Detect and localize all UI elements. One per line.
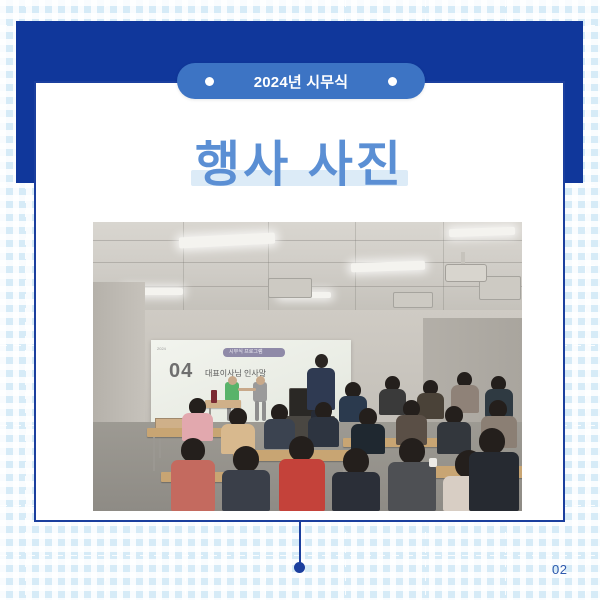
attendee-body: [388, 462, 436, 511]
slide-figure-body: [225, 382, 239, 402]
slide-figure-leg: [262, 401, 266, 421]
attendee-body: [222, 470, 270, 511]
ceiling-vent: [393, 292, 433, 308]
slide-canvas: 2024년 시무식 행사 사진 2: [0, 0, 600, 600]
attendee-body: [182, 413, 213, 441]
screen-corner-label: 2024: [157, 346, 166, 351]
screen-tag-label: 시무식 프로그램: [229, 348, 263, 355]
attendee-body: [279, 459, 325, 511]
screen-slide-number: 04: [169, 360, 193, 383]
attendee-body: [379, 389, 406, 415]
attendee-body: [171, 460, 215, 511]
paper-cup: [429, 458, 437, 467]
dot-icon: [388, 77, 397, 86]
pin-line: [299, 522, 301, 565]
water-bottle: [211, 390, 217, 403]
slide-figure-leg: [255, 401, 259, 421]
presenter-head: [315, 354, 328, 368]
ceiling-projector: [445, 264, 487, 282]
attendee-head: [399, 438, 425, 464]
ceiling-vent: [268, 278, 312, 298]
slide-figure-body: [253, 382, 267, 402]
ceiling-seam: [443, 222, 444, 314]
ceiling-seam: [93, 240, 522, 241]
attendee-body: [332, 472, 380, 511]
page-title-container: 행사 사진: [34, 125, 565, 205]
ceiling-seam: [93, 262, 522, 263]
attendee-head: [181, 438, 205, 462]
event-badge-label: 2024년 시무식: [254, 71, 349, 92]
attendee-head: [289, 436, 314, 461]
event-badge[interactable]: 2024년 시무식: [177, 63, 425, 99]
page-number: 02: [552, 562, 567, 577]
page-title: 행사 사진: [195, 138, 404, 192]
event-photo: 2024 시무식 프로그램 04 대표이사님 인사말: [93, 222, 522, 511]
slide-figure-head: [228, 376, 237, 385]
grid-line-v: [585, 0, 586, 600]
dot-icon: [205, 77, 214, 86]
attendee-head: [233, 446, 259, 472]
pin-dot-icon: [294, 562, 305, 573]
ceiling-seam: [183, 222, 184, 314]
attendee-body: [469, 452, 519, 511]
slide-handshake: [238, 388, 256, 391]
attendee-head: [343, 448, 369, 474]
desk-leg: [153, 437, 155, 471]
attendee-head: [479, 428, 505, 454]
slide-figure-head: [256, 376, 265, 385]
